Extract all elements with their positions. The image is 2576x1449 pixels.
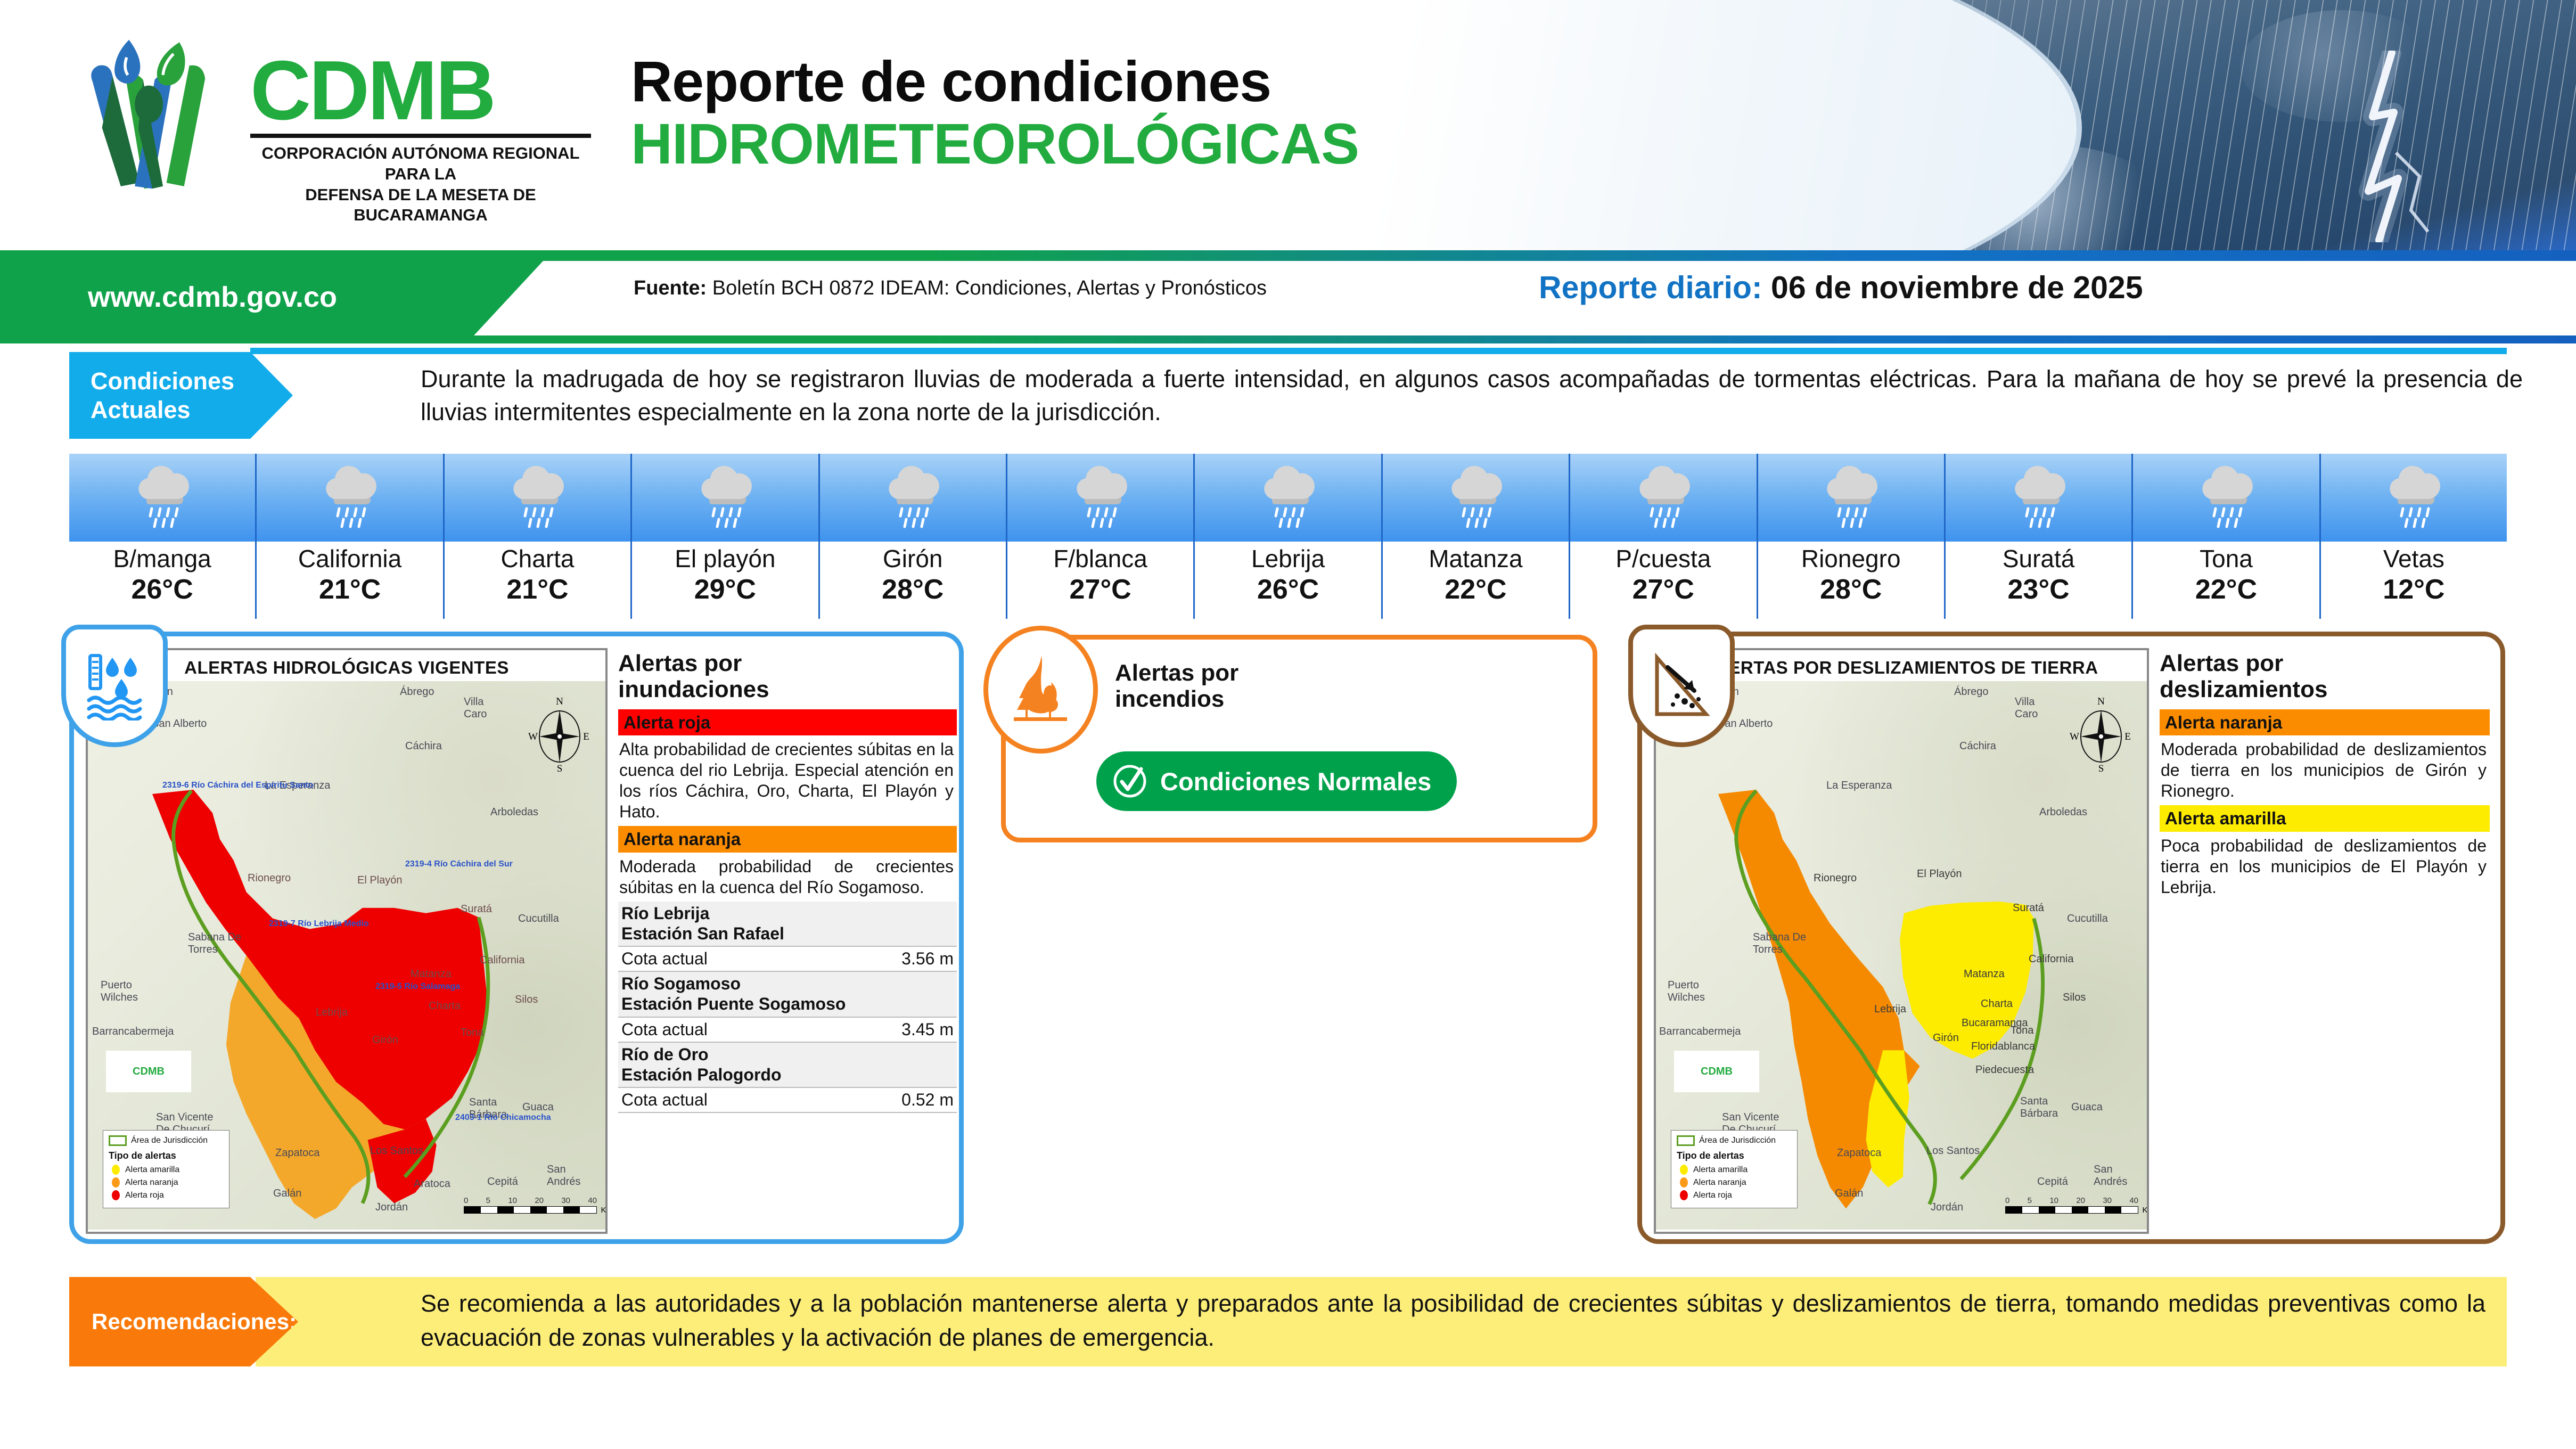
- station-river: Río Sogamoso: [621, 974, 954, 994]
- weather-cell: Suratá23°C: [1946, 454, 2133, 619]
- svg-text:S: S: [2098, 763, 2104, 773]
- scale-tick: 0: [2005, 1196, 2009, 1205]
- jurisdiction-label: Área de Jurisdicción: [1699, 1136, 1776, 1145]
- legend-swatch-yellow: [112, 1165, 120, 1175]
- lightning-bolt-icon: [2336, 51, 2443, 242]
- weather-city-name: Charta: [501, 546, 574, 571]
- map-label: Galán: [273, 1188, 301, 1199]
- map-label: PuertoWilches: [1668, 979, 1705, 1004]
- flood-map-legend: Área de Jurisdicción Tipo de alertas Ale…: [103, 1130, 229, 1208]
- map-label: Matanza: [411, 969, 452, 980]
- rain-cloud-icon: [693, 464, 757, 532]
- jurisdiction-swatch: [1677, 1135, 1695, 1146]
- map-label: California: [2029, 954, 2073, 965]
- station-row: Cota actual 0.52 m: [618, 1087, 957, 1113]
- alert-panels-row: ALERTAS HIDROLÓGICAS VIGENTES San Martín…: [0, 625, 2576, 1270]
- compass-rose-icon: N S E W: [528, 696, 592, 773]
- weather-cell: P/cuesta27°C: [1570, 454, 1758, 619]
- legend-swatch-red: [1680, 1190, 1688, 1200]
- check-circle-icon: [1111, 763, 1148, 800]
- scale-tick: 20: [535, 1196, 544, 1205]
- weather-city-name: Vetas: [2383, 546, 2444, 571]
- map-label: SanAndrés: [2094, 1164, 2127, 1188]
- fire-heading: Alertas por incendios: [1115, 660, 1238, 713]
- weather-city-name: California: [298, 546, 401, 571]
- rain-cloud-icon: [881, 464, 945, 532]
- weather-cell: Charta21°C: [445, 454, 632, 619]
- legend-swatch-orange: [1680, 1177, 1688, 1188]
- station-metric: Cota actual: [621, 1090, 708, 1110]
- scale-tick: 30: [2103, 1196, 2112, 1205]
- map-basin-label: 2403-1 Rio Chicamocha: [455, 1114, 514, 1123]
- scale-tick: 10: [508, 1196, 517, 1205]
- weather-cell: Girón28°C: [820, 454, 1007, 619]
- weather-temperature: 26°C: [1257, 576, 1319, 603]
- scale-tick: 20: [2076, 1196, 2085, 1205]
- flood-alert-level-red: Alerta roja: [618, 709, 957, 736]
- map-label: Piedecuesta: [1975, 1065, 2034, 1076]
- report-date-line: Reporte diario: 06 de noviembre de 2025: [1539, 269, 2143, 306]
- map-label: VillaCaro: [2015, 696, 2038, 721]
- cdmb-acronym: CDMB: [250, 51, 591, 130]
- map-label: Zapatoca: [1837, 1148, 1881, 1159]
- weather-icon-wrap: [1946, 454, 2131, 542]
- weather-temperature: 27°C: [1632, 576, 1694, 603]
- map-label: Charta: [429, 1001, 461, 1012]
- flood-alert-text-orange: Moderada probabilidad de crecientes súbi…: [618, 853, 957, 902]
- current-conditions-tag: Condiciones Actuales: [69, 352, 293, 439]
- map-basin-label: 2319-5 Río Salamaga: [375, 983, 434, 992]
- weather-temperature: 12°C: [2383, 576, 2444, 603]
- weather-cell: F/blanca27°C: [1007, 454, 1195, 619]
- svg-text:E: E: [2124, 731, 2131, 742]
- jurisdiction-label: Área de Jurisdicción: [131, 1136, 208, 1145]
- weather-cell: B/manga26°C: [69, 454, 257, 619]
- map-label: Ábrego: [1954, 686, 1989, 698]
- weather-city-name: Rionegro: [1801, 546, 1901, 571]
- recommendations-tag-label: Recomendaciones:: [92, 1309, 297, 1335]
- flood-badge: [61, 625, 168, 747]
- map-label: Girón: [1933, 1033, 1959, 1044]
- scale-unit: Km: [601, 1206, 606, 1215]
- map-label: Bucaramanga: [1962, 1018, 2028, 1029]
- svg-text:E: E: [583, 731, 589, 742]
- page-header: CDMB CORPORACIÓN AUTÓNOMA REGIONAL PARA …: [0, 0, 2576, 250]
- scale-bar: [2005, 1206, 2138, 1214]
- flood-map-canvas: San Martín San Alberto Ábrego VillaCaro …: [88, 681, 605, 1230]
- station-name: Estación Palogordo: [621, 1065, 954, 1085]
- weather-temperature: 21°C: [506, 576, 568, 603]
- station-header: Río de Oro Estación Palogordo: [618, 1043, 957, 1087]
- station-value: 3.45 m: [901, 1020, 954, 1039]
- svg-text:W: W: [528, 731, 538, 742]
- scale-tick: 30: [561, 1196, 570, 1205]
- title-line-2: HIDROMETEOROLÓGICAS: [631, 113, 1359, 175]
- map-label: Lebrija: [1874, 1004, 1906, 1015]
- scale-tick: 5: [486, 1196, 490, 1205]
- landslide-alert-text-orange: Moderada probabilidad de deslizamientos …: [2160, 735, 2490, 805]
- scale-tick: 10: [2049, 1196, 2058, 1205]
- weather-cell: Tona22°C: [2133, 454, 2320, 619]
- legend-item: Alerta naranja: [1680, 1177, 1792, 1188]
- map-basin-label: 2319-4 Río Cáchira del Sur: [405, 860, 464, 869]
- legend-label: Alerta roja: [125, 1191, 164, 1200]
- map-label: Cáchira: [1959, 741, 1996, 752]
- rain-cloud-icon: [1069, 464, 1133, 532]
- current-conditions-text: Durante la madrugada de hoy se registrar…: [421, 363, 2523, 429]
- recommendations-section: Recomendaciones: Se recomienda a las aut…: [0, 1277, 2576, 1378]
- scale-tick: 40: [2129, 1196, 2138, 1205]
- weather-icon-wrap: [2321, 454, 2507, 542]
- map-label: Sabana DeTorres: [1753, 931, 1806, 956]
- legend-swatch-red: [112, 1190, 120, 1200]
- map-label: Zapatoca: [275, 1148, 319, 1159]
- weather-temperature: 29°C: [694, 576, 756, 603]
- legend-swatch-yellow: [1680, 1165, 1688, 1175]
- map-label: Charta: [1981, 998, 2013, 1010]
- map-label: Lebrija: [316, 1007, 348, 1018]
- landslide-alert-text-yellow: Poca probabilidad de deslizamientos de t…: [2160, 832, 2490, 902]
- scale-bar: [464, 1206, 597, 1214]
- map-label: La Esperanza: [1826, 780, 1892, 791]
- flood-heading-line1: Alertas por: [618, 650, 957, 676]
- fire-status-badge: Condiciones Normales: [1096, 751, 1457, 811]
- weather-temperature: 23°C: [2008, 576, 2070, 603]
- cdmb-logo-mark: [69, 29, 245, 205]
- flood-alert-panel: ALERTAS HIDROLÓGICAS VIGENTES San Martín…: [69, 632, 964, 1244]
- logo-subtitle-line2: DEFENSA DE LA MESETA DE BUCARAMANGA: [250, 185, 591, 226]
- cdmb-logo: CDMB CORPORACIÓN AUTÓNOMA REGIONAL PARA …: [69, 29, 639, 226]
- weather-city-name: Matanza: [1429, 546, 1522, 571]
- source-label: Fuente:: [634, 277, 707, 299]
- weather-city-name: P/cuesta: [1615, 546, 1711, 571]
- compass-rose-icon: N S E W: [2069, 696, 2133, 773]
- landslide-alert-level-orange: Alerta naranja: [2160, 709, 2490, 736]
- weather-cell: Vetas12°C: [2321, 454, 2507, 619]
- map-label: Suratá: [2013, 903, 2044, 914]
- map-label: SantaBárbara: [2020, 1095, 2058, 1120]
- station-river: Río Lebrija: [621, 904, 954, 924]
- map-label: Ábrego: [400, 686, 434, 698]
- rain-cloud-icon: [318, 464, 382, 532]
- flood-alert-level-orange: Alerta naranja: [618, 826, 957, 853]
- map-label: Silos: [515, 994, 538, 1005]
- rain-cloud-icon: [1443, 464, 1507, 532]
- station-value: 0.52 m: [901, 1090, 954, 1110]
- rain-cloud-icon: [1631, 464, 1695, 532]
- rain-cloud-icon: [505, 464, 569, 532]
- map-label: Floridablanca: [1971, 1041, 2035, 1052]
- weather-strip: B/manga26°CCalifornia21°CCharta21°CEl pl…: [69, 454, 2507, 619]
- landslide-map-legend: Área de Jurisdicción Tipo de alertas Ale…: [1671, 1130, 1798, 1208]
- rain-cloud-icon: [2194, 464, 2258, 532]
- weather-temperature: 21°C: [319, 576, 381, 603]
- map-label: PuertoWilches: [101, 979, 138, 1004]
- source-text: Boletín BCH 0872 IDEAM: Condiciones, Ale…: [712, 277, 1267, 299]
- weather-icon-wrap: [632, 454, 818, 542]
- map-label: Barrancabermeja: [92, 1026, 174, 1037]
- scale-unit: Km: [2143, 1206, 2147, 1215]
- map-label: Barrancabermeja: [1659, 1026, 1741, 1037]
- map-label: Los Santos: [1926, 1145, 1980, 1157]
- current-conditions-tag-line2: Actuales: [91, 396, 293, 424]
- current-conditions-tag-line1: Condiciones: [91, 367, 293, 395]
- map-cdmb-watermark: CDMB: [106, 1051, 191, 1092]
- legend-label: Alerta amarilla: [1693, 1165, 1748, 1175]
- map-label: Arboledas: [490, 807, 538, 818]
- rain-cloud-icon: [2007, 464, 2071, 532]
- map-label: Sabana DeTorres: [188, 931, 241, 956]
- logo-subtitle-line1: CORPORACIÓN AUTÓNOMA REGIONAL PARA LA: [250, 143, 591, 185]
- map-label: Cepitá: [487, 1176, 518, 1188]
- brand-bar: www.cdmb.gov.co Fuente: Boletín BCH 0872…: [0, 250, 2576, 343]
- legend-item: Alerta roja: [1680, 1190, 1792, 1200]
- water-level-gauge-icon: [83, 651, 146, 721]
- landslide-alert-panel: ALERTAS POR DESLIZAMIENTOS DE TIERRA San…: [1637, 632, 2505, 1244]
- station-metric: Cota actual: [621, 949, 708, 969]
- map-label: Matanza: [1964, 969, 2005, 980]
- svg-text:S: S: [557, 763, 563, 773]
- legend-label: Alerta naranja: [1693, 1178, 1746, 1188]
- map-label: Galán: [1835, 1188, 1863, 1199]
- scale-tick: 5: [2028, 1196, 2032, 1205]
- map-label: Los Santos: [370, 1145, 423, 1157]
- map-label: Rionegro: [1814, 873, 1857, 884]
- landslide-heading-line2: deslizamientos: [2160, 676, 2490, 702]
- flood-alert-details: Alertas por inundaciones Alerta roja Alt…: [618, 650, 957, 1113]
- map-label: Suratá: [461, 904, 492, 915]
- map-label: El Playón: [1917, 869, 1962, 880]
- current-conditions-section: Condiciones Actuales Durante la madrugad…: [0, 348, 2576, 446]
- flood-map[interactable]: ALERTAS HIDROLÓGICAS VIGENTES San Martín…: [86, 648, 608, 1234]
- weather-cell: El playón29°C: [632, 454, 819, 619]
- map-basin-label: 2319-6 Río Cáchira del Espíritu Santo: [162, 781, 226, 790]
- flood-heading-line2: inundaciones: [618, 676, 957, 702]
- legend-jurisdiction: Área de Jurisdicción: [1677, 1135, 1792, 1146]
- weather-icon-wrap: [257, 454, 442, 542]
- weather-city-name: B/manga: [113, 546, 211, 571]
- weather-icon-wrap: [69, 454, 255, 542]
- map-label: Rionegro: [248, 873, 291, 884]
- station-header: Río Lebrija Estación San Rafael: [618, 902, 957, 946]
- landslide-heading-line1: Alertas por: [2160, 650, 2490, 676]
- map-basin-label: 2319-7 Río Lebrija Medio: [269, 920, 322, 929]
- weather-temperature: 26°C: [132, 576, 193, 603]
- recommendations-tag: Recomendaciones:: [69, 1277, 298, 1366]
- weather-cell: Lebrija26°C: [1195, 454, 1382, 619]
- svg-text:W: W: [2070, 731, 2079, 742]
- weather-icon-wrap: [1383, 454, 1569, 542]
- weather-city-name: Girón: [883, 546, 942, 571]
- map-label: El Playón: [357, 875, 403, 886]
- jurisdiction-swatch: [109, 1135, 127, 1146]
- weather-temperature: 22°C: [2195, 576, 2257, 603]
- rain-cloud-icon: [1819, 464, 1883, 532]
- weather-city-name: Suratá: [2003, 546, 2075, 571]
- legend-swatch-orange: [112, 1177, 120, 1188]
- map-label: VillaCaro: [464, 696, 487, 721]
- map-label: Girón: [372, 1035, 398, 1046]
- landslide-badge: [1628, 625, 1735, 747]
- landslide-alert-level-yellow: Alerta amarilla: [2160, 805, 2490, 832]
- legend-label: Alerta amarilla: [125, 1165, 179, 1175]
- landslide-map[interactable]: ALERTAS POR DESLIZAMIENTOS DE TIERRA San…: [1654, 648, 2149, 1234]
- weather-cell: Matanza22°C: [1383, 454, 1570, 619]
- station-river: Río de Oro: [621, 1045, 954, 1065]
- flood-heading: Alertas por inundaciones: [618, 650, 957, 703]
- fire-heading-line2: incendios: [1115, 686, 1238, 712]
- weather-icon-wrap: [1195, 454, 1381, 542]
- legend-label: Alerta naranja: [125, 1178, 178, 1188]
- fire-alert-panel: Alertas por incendios Condiciones Normal…: [1001, 635, 1597, 842]
- map-cdmb-watermark: CDMB: [1674, 1051, 1759, 1092]
- legend-item: Alerta roja: [112, 1190, 224, 1200]
- map-label: Cáchira: [405, 741, 442, 752]
- scale-tick: 0: [464, 1196, 468, 1205]
- map-label: Aratoca: [414, 1178, 450, 1190]
- map-label: Guaca: [522, 1102, 554, 1113]
- website-url[interactable]: www.cdmb.gov.co: [88, 281, 337, 314]
- rain-cloud-icon: [2382, 464, 2446, 532]
- weather-temperature: 22°C: [1445, 576, 1506, 603]
- map-label: Silos: [2063, 992, 2086, 1003]
- map-label: Tona: [461, 1027, 483, 1038]
- legend-item: Alerta naranja: [112, 1177, 224, 1188]
- report-date-value: 06 de noviembre de 2025: [1771, 270, 2143, 305]
- rain-cloud-icon: [1256, 464, 1320, 532]
- weather-icon-wrap: [445, 454, 630, 542]
- station-row: Cota actual 3.56 m: [618, 946, 957, 972]
- map-label: Guaca: [2071, 1102, 2103, 1113]
- map-label: Jordán: [375, 1202, 408, 1213]
- legend-item: Alerta amarilla: [1680, 1165, 1792, 1175]
- weather-icon-wrap: [1570, 454, 1756, 542]
- legend-title: Tipo de alertas: [1677, 1150, 1792, 1161]
- weather-city-name: El playón: [675, 546, 775, 571]
- station-header: Río Sogamoso Estación Puente Sogamoso: [618, 972, 957, 1017]
- weather-icon-wrap: [2133, 454, 2319, 542]
- map-label: California: [480, 955, 524, 966]
- legend-item: Alerta amarilla: [112, 1165, 224, 1175]
- svg-text:N: N: [556, 696, 563, 707]
- landslide-map-canvas: San Martín San Alberto Ábrego VillaCaro …: [1656, 681, 2147, 1230]
- landslide-alert-details: Alertas por deslizamientos Alerta naranj…: [2160, 650, 2490, 902]
- title-line-1: Reporte de condiciones: [631, 51, 1359, 113]
- fire-heading-line1: Alertas por: [1115, 660, 1238, 686]
- recommendations-text: Se recomienda a las autoridades y a la p…: [421, 1287, 2485, 1355]
- weather-cell: California21°C: [257, 454, 444, 619]
- website-url-container[interactable]: www.cdmb.gov.co: [0, 250, 543, 343]
- weather-temperature: 27°C: [1070, 576, 1131, 603]
- weather-temperature: 28°C: [882, 576, 944, 603]
- flood-map-scalebar: 0 5 10 20 30 40 Km: [464, 1196, 597, 1214]
- weather-city-name: Lebrija: [1251, 546, 1325, 571]
- station-name: Estación San Rafael: [621, 924, 954, 944]
- map-label: Cucutilla: [2067, 913, 2108, 924]
- map-label: Cepitá: [2037, 1176, 2068, 1188]
- station-row: Cota actual 3.45 m: [618, 1017, 957, 1043]
- landslide-icon: [1650, 651, 1713, 721]
- fire-status-label: Condiciones Normales: [1160, 767, 1431, 796]
- flood-alert-text-red: Alta probabilidad de crecientes súbitas …: [618, 735, 957, 826]
- svg-text:N: N: [2097, 696, 2105, 707]
- legend-label: Alerta roja: [1693, 1191, 1732, 1200]
- weather-cell: Rionegro28°C: [1758, 454, 1946, 619]
- weather-city-name: F/blanca: [1053, 546, 1147, 571]
- station-metric: Cota actual: [621, 1020, 708, 1039]
- map-label: SanAndrés: [547, 1164, 580, 1188]
- rain-cloud-icon: [130, 464, 194, 532]
- landslide-map-scalebar: 0 5 10 20 30 40 Km: [2005, 1196, 2138, 1214]
- weather-city-name: Tona: [2200, 546, 2253, 571]
- weather-icon-wrap: [820, 454, 1006, 542]
- station-value: 3.56 m: [901, 949, 954, 969]
- legend-jurisdiction: Área de Jurisdicción: [109, 1135, 224, 1146]
- weather-temperature: 28°C: [1820, 576, 1882, 603]
- fire-badge: [983, 626, 1098, 754]
- forest-fire-icon: [1006, 652, 1076, 727]
- report-date-label: Reporte diario:: [1539, 270, 1762, 305]
- source-line: Fuente: Boletín BCH 0872 IDEAM: Condicio…: [634, 277, 1267, 300]
- current-conditions-rule: [250, 348, 2507, 354]
- map-label: Jordán: [1931, 1202, 1963, 1213]
- landslide-heading: Alertas por deslizamientos: [2160, 650, 2490, 703]
- legend-title: Tipo de alertas: [109, 1150, 224, 1161]
- page-title: Reporte de condiciones HIDROMETEOROLÓGIC…: [631, 51, 1359, 175]
- station-name: Estación Puente Sogamoso: [621, 994, 954, 1014]
- weather-icon-wrap: [1758, 454, 1944, 542]
- map-label: Cucutilla: [518, 913, 559, 924]
- scale-tick: 40: [588, 1196, 597, 1205]
- weather-icon-wrap: [1007, 454, 1193, 542]
- map-label: Arboledas: [2039, 807, 2087, 818]
